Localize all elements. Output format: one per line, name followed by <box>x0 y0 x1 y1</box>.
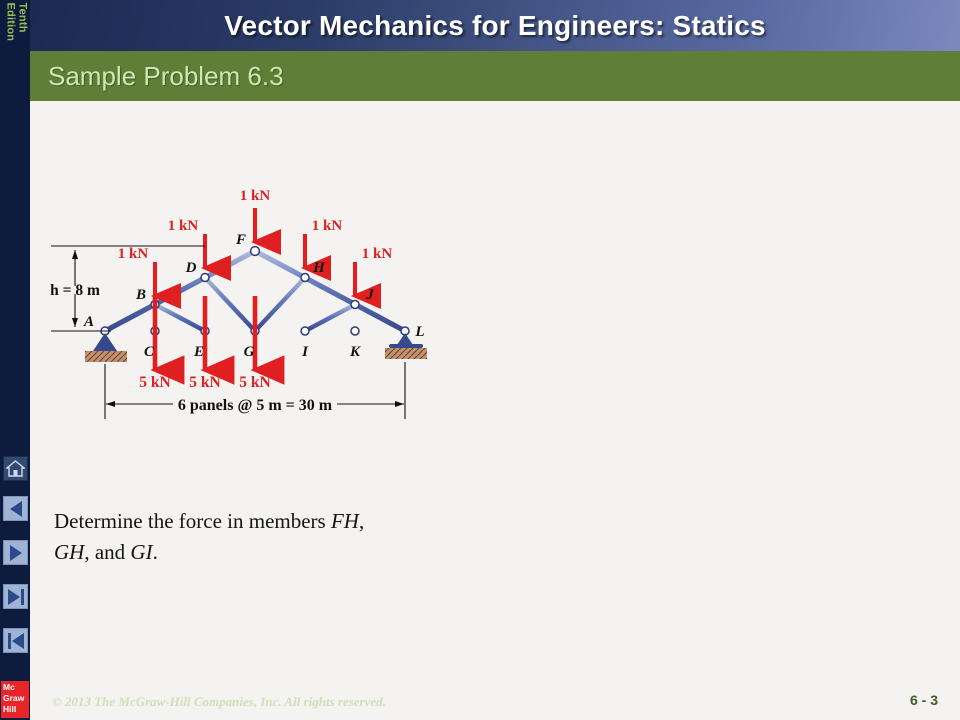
load-label-top-3: 1 kN <box>240 188 271 204</box>
problem-statement: Determine the force in members FH, GH, a… <box>54 506 614 568</box>
height-label: h = 8 m <box>50 282 100 299</box>
joint-label-E: E <box>193 344 204 360</box>
member-gi: GI <box>130 540 152 564</box>
joint-label-F: F <box>235 232 246 248</box>
slide-subtitle: Sample Problem 6.3 <box>30 61 284 92</box>
problem-text-part-1: Determine the force in members <box>54 509 331 533</box>
slide-content: 1 kN 1 kN 1 kN 1 kN 1 kN 5 kN 5 kN 5 kN … <box>30 101 960 720</box>
joint-label-C: C <box>144 344 155 360</box>
joint-label-B: B <box>135 287 146 303</box>
load-label-bottom-3: 5 kN <box>239 374 270 391</box>
truss-diagram-svg: 1 kN 1 kN 1 kN 1 kN 1 kN 5 kN 5 kN 5 kN … <box>45 176 465 426</box>
truss-figure: 1 kN 1 kN 1 kN 1 kN 1 kN 5 kN 5 kN 5 kN … <box>45 176 465 426</box>
triangle-right <box>10 545 22 561</box>
next-arrow-icon[interactable] <box>3 540 28 565</box>
page-title: Vector Mechanics for Engineers: Statics <box>224 10 766 42</box>
joint-label-H: H <box>312 260 326 276</box>
bar-triangle-left <box>8 633 24 649</box>
joint-label-L: L <box>414 324 424 340</box>
mcgraw-hill-logo: Mc Graw Hill <box>1 681 29 718</box>
joint-label-A: A <box>83 314 94 330</box>
joint-label-G: G <box>244 344 255 360</box>
load-label-top-1: 1 kN <box>118 246 149 262</box>
member-fh: FH <box>331 509 359 533</box>
load-label-top-2: 1 kN <box>168 218 199 234</box>
triangle-left <box>10 501 22 517</box>
problem-text-part-2: , and <box>84 540 130 564</box>
load-label-top-5: 1 kN <box>362 246 393 262</box>
joint-label-J: J <box>365 287 374 303</box>
slide-canvas: Tenth Edition Mc Graw Hill Vector <box>0 0 960 720</box>
problem-text-comma-1: , <box>359 509 364 533</box>
member-gh: GH <box>54 540 84 564</box>
problem-text-period: . <box>153 540 158 564</box>
previous-arrow-icon[interactable] <box>3 496 28 521</box>
edition-label: Tenth Edition <box>5 3 28 89</box>
subtitle-bar: Sample Problem 6.3 <box>30 51 960 101</box>
triangle-right-bar <box>8 589 24 605</box>
load-label-bottom-1: 5 kN <box>139 374 170 391</box>
sidebar: Tenth Edition Mc Graw Hill <box>0 0 30 720</box>
joint-label-I: I <box>301 344 309 360</box>
title-bar: Vector Mechanics for Engineers: Statics <box>30 0 960 51</box>
home-icon[interactable] <box>3 456 28 481</box>
copyright-notice: © 2013 The McGraw-Hill Companies, Inc. A… <box>52 694 386 710</box>
load-label-bottom-2: 5 kN <box>189 374 220 391</box>
support-pin-A <box>85 333 127 362</box>
joint-label-K: K <box>349 344 361 360</box>
page-number: 6 - 3 <box>910 692 938 708</box>
first-slide-icon[interactable] <box>3 628 28 653</box>
joint-label-D: D <box>185 260 197 276</box>
bottom-load-labels: 5 kN 5 kN 5 kN <box>139 374 270 391</box>
span-label: 6 panels @ 5 m = 30 m <box>178 397 333 414</box>
last-slide-icon[interactable] <box>3 584 28 609</box>
load-label-top-4: 1 kN <box>312 218 343 234</box>
